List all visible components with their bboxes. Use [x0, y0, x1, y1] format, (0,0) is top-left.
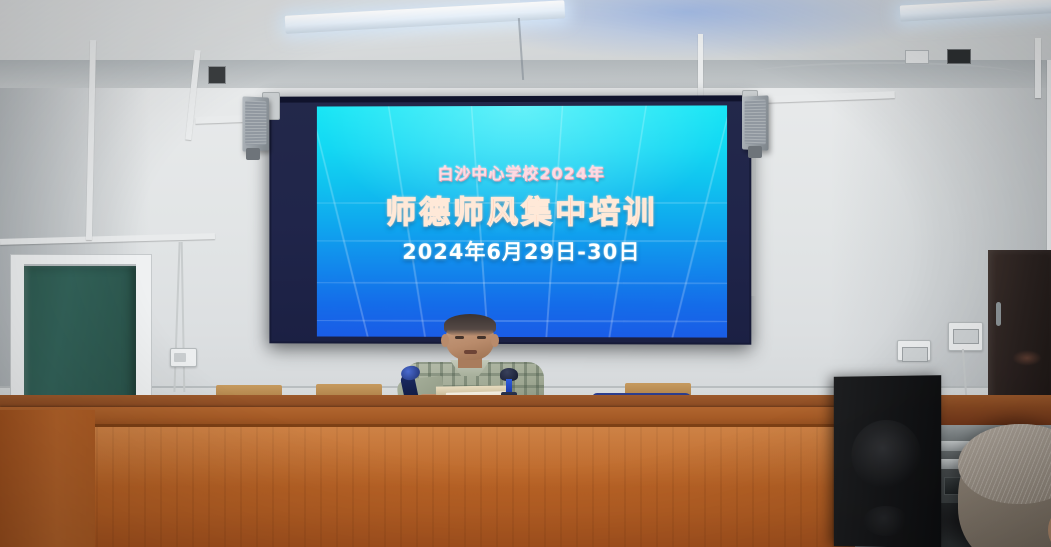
podium-highlight: [0, 427, 855, 487]
wall-panel-outlet[interactable]: [948, 322, 983, 351]
globe-parallel-line: [317, 282, 727, 285]
switch-face: [902, 347, 928, 362]
presenter-mouth: [464, 350, 477, 354]
light-switch[interactable]: [897, 340, 931, 361]
presenter-eye: [477, 336, 486, 339]
outlet-slot: [174, 353, 186, 362]
presentation-slide: 白沙中心学校2024年 师德师风集中培训 2024年6月29日-30日: [317, 105, 727, 337]
slide-text-block: 白沙中心学校2024年 师德师风集中培训 2024年6月29日-30日: [317, 160, 727, 267]
wall-speaker-left: [242, 96, 269, 151]
speaker-tweeter: [863, 506, 909, 536]
speaker-grill: [745, 100, 766, 145]
slide-subtitle: 白沙中心学校2024年: [317, 160, 727, 184]
green-door[interactable]: [24, 266, 136, 406]
speaker-woofer: [851, 420, 921, 490]
speaker-bracket: [748, 146, 762, 158]
screen-bezel: [269, 95, 751, 102]
speaker-bracket: [246, 148, 260, 160]
junction-box: [947, 49, 971, 64]
slide-date: 2024年6月29日-30日: [317, 236, 727, 266]
microphone-stem: [506, 379, 512, 393]
presenter-ear: [441, 334, 449, 347]
wall-outlet[interactable]: [170, 348, 197, 367]
ceiling-glow: [520, 0, 940, 60]
presenter-ear: [491, 334, 499, 347]
presenter-eye: [455, 336, 464, 339]
wall-speaker-right: [742, 95, 769, 150]
outlet-face: [953, 329, 979, 344]
speaker-grill: [245, 101, 266, 146]
meeting-room-photo: 白沙中心学校2024年 师德师风集中培训 2024年6月29日-30日: [0, 0, 1051, 547]
presenter-hair: [444, 314, 496, 336]
floor-speaker: [834, 375, 941, 547]
slide-title: 师德师风集中培训: [317, 187, 727, 232]
foreground-attendee-head: [958, 424, 1051, 547]
junction-box: [208, 66, 226, 84]
projection-screen[interactable]: 白沙中心学校2024年 师德师风集中培训 2024年6月29日-30日: [269, 95, 751, 344]
door-handle[interactable]: [996, 302, 1001, 326]
conduit-pipe: [1035, 38, 1041, 98]
podium-left-panel: [0, 410, 95, 547]
hanging-cable: [735, 62, 1035, 94]
junction-box: [905, 50, 929, 64]
door-reflection: [1012, 350, 1042, 366]
